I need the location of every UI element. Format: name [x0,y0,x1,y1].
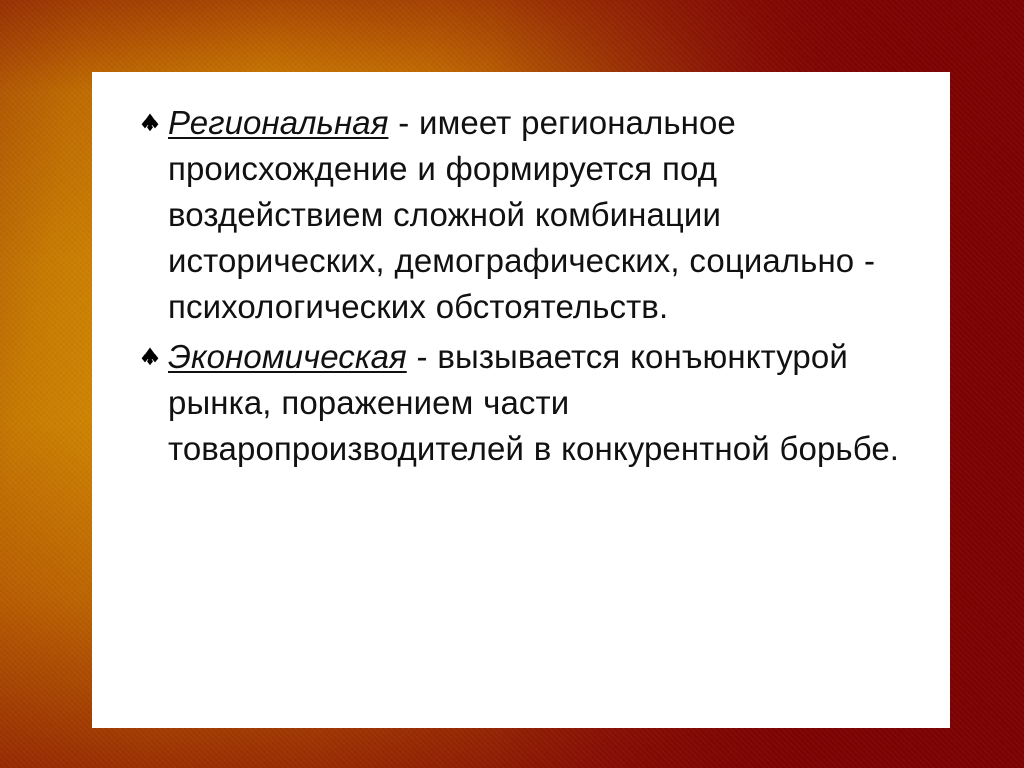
bullet-text: Региональная - имеет региональное происх… [168,100,932,330]
presentation-slide: Региональная - имеет региональное происх… [0,0,1024,768]
bullet-text: Экономическая - вызывается конъюнктурой … [168,334,932,472]
slide-content-panel: Региональная - имеет региональное происх… [92,72,950,728]
diamond-cluster-bullet-icon [138,111,168,135]
bullet-lead-term: Экономическая [168,338,407,375]
bullet-item: Региональная - имеет региональное происх… [138,100,932,330]
diamond-cluster-bullet-icon [138,345,168,369]
bullet-lead-term: Региональная [168,104,388,141]
bullet-item: Экономическая - вызывается конъюнктурой … [138,334,932,472]
bullet-list: Региональная - имеет региональное происх… [138,100,932,472]
